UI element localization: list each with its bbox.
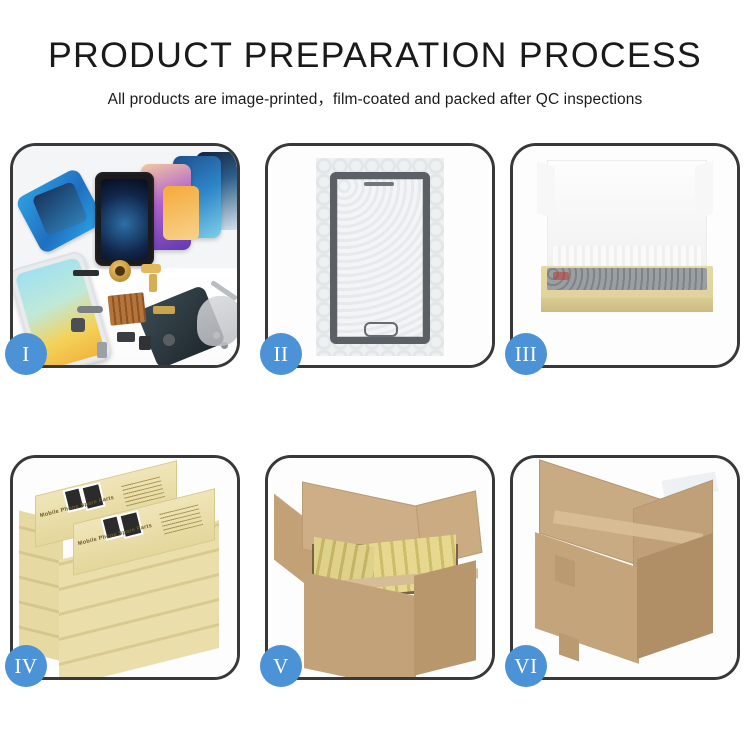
part-module-icon (71, 318, 85, 332)
step-1-image (13, 146, 237, 365)
part-flex-cable-icon (141, 264, 161, 273)
step-badge-6: VI (505, 645, 547, 687)
home-button-icon (364, 322, 398, 337)
kraft-box-front-edge (541, 298, 713, 312)
step-badge-2: II (260, 333, 302, 375)
step-badge-4: IV (5, 645, 47, 687)
open-box-lid-right-flap (695, 161, 713, 218)
step-badge-5: V (260, 645, 302, 687)
step-4-image: Mobile Phone Spare Parts Mobile Phone Sp… (13, 458, 237, 677)
process-step-3: III (510, 143, 740, 368)
step-5-image (268, 458, 492, 677)
part-connector-icon (149, 274, 157, 292)
page-title: PRODUCT PREPARATION PROCESS (0, 38, 750, 73)
part-ribbon-icon (77, 306, 103, 313)
process-step-grid: I II III (10, 143, 740, 680)
wrapped-screen-panel (330, 172, 430, 344)
part-speaker-icon (73, 270, 99, 276)
earpiece-slot-icon (364, 182, 394, 186)
process-step-6: VI (510, 455, 740, 680)
copper-coil-icon (109, 260, 131, 282)
part-battery-icon (139, 336, 151, 350)
process-step-1: I (10, 143, 240, 368)
step-3-image (513, 146, 737, 365)
process-step-5: V (265, 455, 495, 680)
page-subtitle: All products are image-printed，film-coat… (0, 87, 750, 109)
orange-phone-icon (163, 186, 199, 240)
step-badge-3: III (505, 333, 547, 375)
part-chip-icon (117, 332, 135, 342)
part-button-icon (163, 334, 175, 346)
wrapped-screen-in-box (547, 268, 707, 290)
header: PRODUCT PREPARATION PROCESS All products… (0, 0, 750, 109)
part-sensor-icon (97, 342, 107, 358)
chip-grid-icon (108, 292, 147, 326)
open-box-lid-left-flap (537, 161, 555, 218)
step-badge-1: I (5, 333, 47, 375)
step-2-image (268, 146, 492, 365)
step-6-image (513, 458, 737, 677)
carton-side-face (414, 560, 476, 675)
process-step-4: Mobile Phone Spare Parts Mobile Phone Sp… (10, 455, 240, 680)
product-preparation-process-page: PRODUCT PREPARATION PROCESS All products… (0, 0, 750, 750)
process-step-2: II (265, 143, 495, 368)
blue-film-phone-icon (15, 167, 106, 255)
hand-icon (197, 296, 237, 346)
part-gold-strip-icon (153, 306, 175, 314)
phones-and-parts-scene (13, 146, 237, 365)
black-phone-icon (95, 172, 154, 266)
